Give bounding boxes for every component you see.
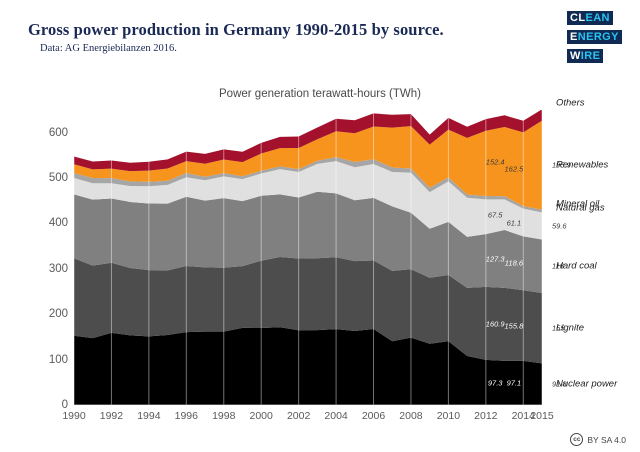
legend-item-others: Others [556, 98, 585, 109]
y-axis-labels: 0100200300400500600 [28, 110, 68, 405]
x-tick-2008: 2008 [399, 410, 422, 422]
x-tick-1996: 1996 [175, 410, 198, 422]
license-label: BY SA 4.0 [587, 435, 626, 445]
logo-clean-a: CL [570, 12, 585, 24]
logo-line-clean: CLEAN [567, 11, 613, 25]
y-tick-400: 400 [49, 217, 68, 229]
legend-item-renewables: Renewables [556, 160, 608, 171]
x-tick-1990: 1990 [62, 410, 85, 422]
page-subtitle: Data: AG Energiebilanzen 2016. [40, 43, 177, 54]
license-attribution: cc BY SA 4.0 [570, 433, 626, 446]
legend-item-lignite: Lignite [556, 323, 584, 334]
x-tick-1998: 1998 [212, 410, 235, 422]
x-tick-2010: 2010 [437, 410, 460, 422]
plot-svg [74, 110, 542, 405]
x-tick-2012: 2012 [474, 410, 497, 422]
legend-item-natural-gas: Natural gas [556, 203, 605, 214]
chart-page: Gross power production in Germany 1990-2… [0, 0, 640, 452]
x-axis-labels: 1990199219941996199820002002200420062008… [74, 410, 554, 426]
y-tick-600: 600 [49, 127, 68, 139]
x-tick-2000: 2000 [250, 410, 273, 422]
chart-legend: OthersRenewablesMineral oilNatural gasHa… [556, 110, 640, 410]
x-tick-1992: 1992 [100, 410, 123, 422]
x-tick-1994: 1994 [137, 410, 160, 422]
x-tick-2015: 2015 [530, 410, 553, 422]
logo-energy-a: E [570, 31, 578, 43]
logo-line-wire: WIRE [567, 49, 603, 63]
stacked-area-plot: 97.397.191.8160.9155.8155127.3118.611867… [74, 110, 542, 405]
logo-wire-a: W [570, 50, 581, 62]
y-tick-100: 100 [49, 354, 68, 366]
page-header: Gross power production in Germany 1990-2… [0, 0, 640, 67]
x-tick-2004: 2004 [324, 410, 347, 422]
legend-item-nuclear-power: Nuclear power [556, 379, 617, 390]
page-title: Gross power production in Germany 1990-2… [28, 20, 444, 40]
x-tick-2002: 2002 [287, 410, 310, 422]
clean-energy-wire-logo: CLEAN ENERGY WIRE [567, 8, 627, 65]
chart-container: Power generation terawatt-hours (TWh) 01… [0, 66, 640, 452]
creative-commons-icon: cc [570, 433, 583, 446]
y-tick-300: 300 [49, 263, 68, 275]
x-tick-2006: 2006 [362, 410, 385, 422]
y-tick-500: 500 [49, 172, 68, 184]
legend-item-hard-coal: Hard coal [556, 261, 597, 272]
logo-clean-b: EAN [585, 12, 609, 24]
logo-wire-b: IRE [581, 50, 601, 62]
logo-line-energy: ENERGY [567, 30, 622, 44]
logo-energy-b: NERGY [578, 31, 619, 43]
chart-title: Power generation terawatt-hours (TWh) [219, 88, 421, 100]
y-tick-200: 200 [49, 308, 68, 320]
